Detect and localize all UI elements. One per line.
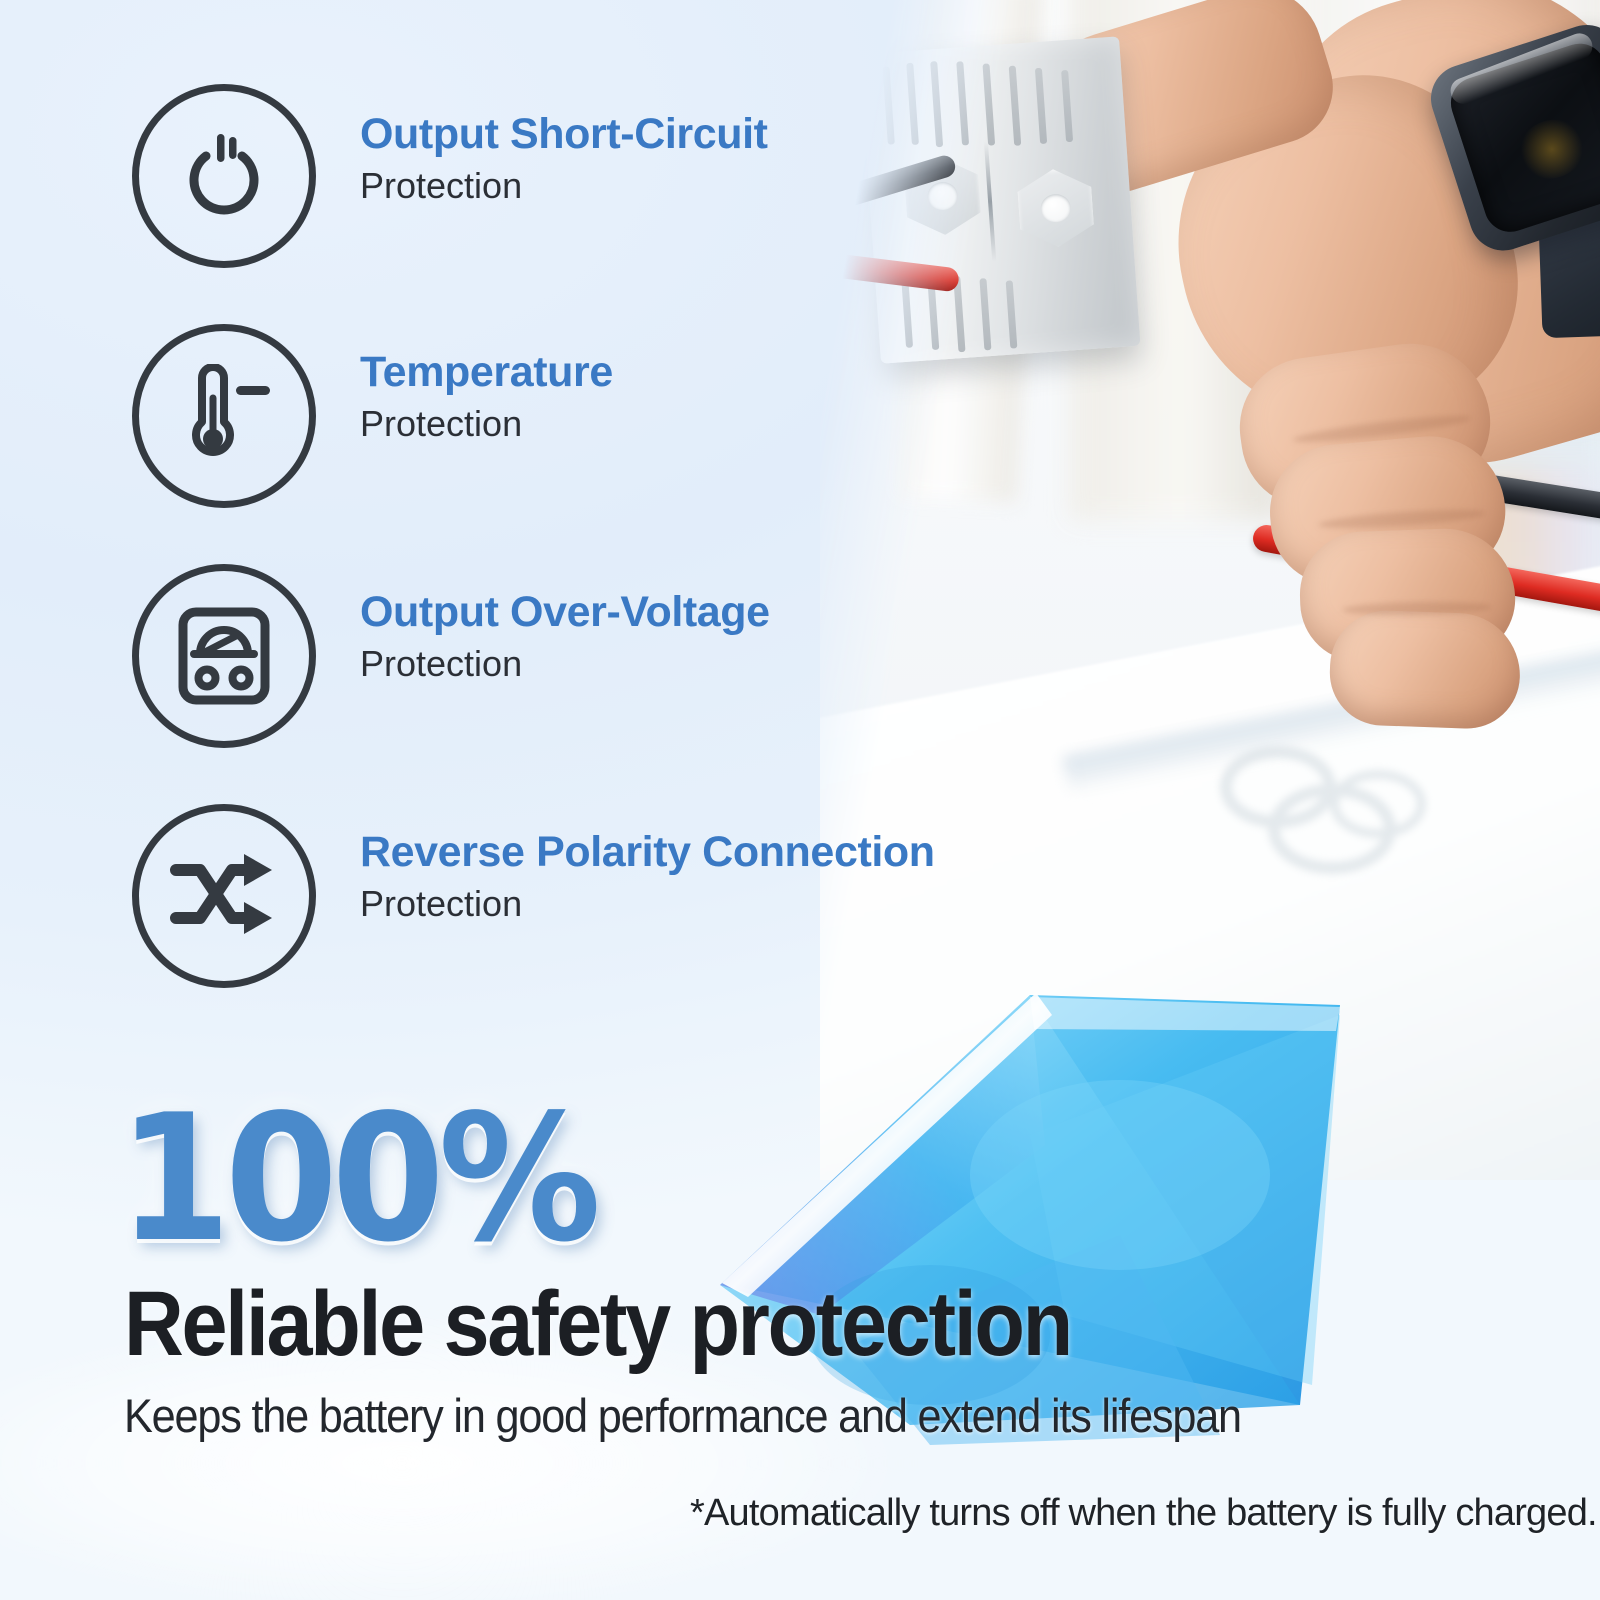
- feature-item: Output Short-Circuit Protection: [132, 84, 1032, 324]
- feature-text: Temperature Protection: [360, 350, 613, 445]
- feature-list: Output Short-Circuit Protection Temperat…: [132, 84, 1032, 1044]
- footnote: *Automatically turns off when the batter…: [690, 1492, 1597, 1535]
- power-button-icon: [132, 84, 316, 268]
- finger-pinky: [1328, 609, 1522, 731]
- feature-text: Reverse Polarity Connection Protection: [360, 830, 935, 925]
- hand: [940, 0, 1600, 820]
- feature-subtitle: Protection: [360, 402, 613, 445]
- feature-title: Temperature: [360, 350, 613, 395]
- shuffle-arrows-icon: [132, 804, 316, 988]
- hex-hole: [1040, 193, 1072, 223]
- feature-item: Temperature Protection: [132, 324, 1032, 564]
- feature-text: Output Short-Circuit Protection: [360, 112, 768, 207]
- feature-text: Output Over-Voltage Protection: [360, 590, 770, 685]
- main-headline: Reliable safety protection: [124, 1272, 1071, 1377]
- watch-screen-reflection: [1512, 111, 1593, 187]
- feature-item: Output Over-Voltage Protection: [132, 564, 1032, 804]
- feature-title: Output Short-Circuit: [360, 112, 768, 157]
- feature-subtitle: Protection: [360, 642, 770, 685]
- feature-subtitle: Protection: [360, 164, 768, 207]
- feature-item: Reverse Polarity Connection Protection: [132, 804, 1032, 1044]
- thermometer-icon: [132, 324, 316, 508]
- feature-subtitle: Protection: [360, 882, 935, 925]
- product-feature-banner: Output Short-Circuit Protection Temperat…: [0, 0, 1600, 1600]
- multimeter-gauge-icon: [132, 564, 316, 748]
- percent-headline: 100%: [118, 1078, 595, 1281]
- feature-title: Output Over-Voltage: [360, 590, 770, 635]
- feature-title: Reverse Polarity Connection: [360, 830, 935, 875]
- sub-headline: Keeps the battery in good performance an…: [124, 1388, 1241, 1443]
